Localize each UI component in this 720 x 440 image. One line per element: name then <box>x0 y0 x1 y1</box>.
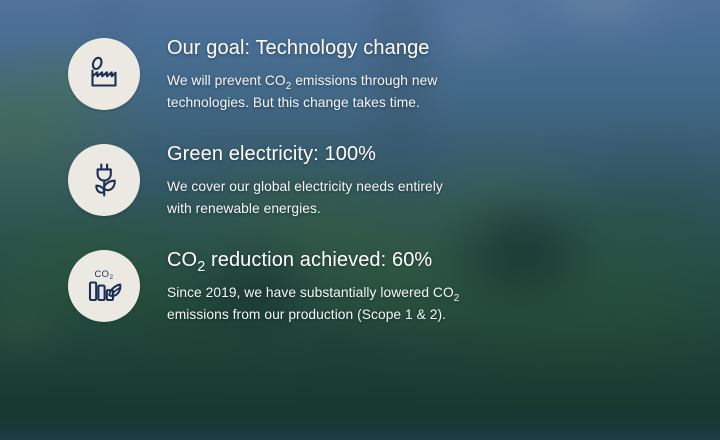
item-heading: CO2 reduction achieved: 60% <box>167 248 459 273</box>
body-text: emissions from our production (Scope 1 &… <box>167 307 446 322</box>
badge-container-1 <box>0 140 167 216</box>
item-body-line: technologies. But this change takes time… <box>167 92 437 114</box>
item-body-line: emissions from our production (Scope 1 &… <box>167 304 459 326</box>
sustainability-highlights-list: Our goal: Technology change We will prev… <box>0 0 720 400</box>
co2-bar-chart-leaf-icon: CO2 <box>81 263 127 309</box>
factory-leaf-icon <box>82 52 126 96</box>
list-item: CO2 CO2 reduction achieved: 60% Sin <box>0 246 720 352</box>
heading-text: CO <box>167 249 197 271</box>
body-text: We will prevent CO <box>167 73 286 88</box>
heading-text: Green electricity: 100% <box>167 143 376 165</box>
body-text: technologies. But this change takes time… <box>167 95 420 110</box>
body-text: emissions through new <box>291 73 437 88</box>
item-body-line: We cover our global electricity needs en… <box>167 176 443 198</box>
icon-badge-0 <box>68 38 140 110</box>
item-body-line: Since 2019, we have substantially lowere… <box>167 282 459 304</box>
item-heading: Our goal: Technology change <box>167 36 437 61</box>
subscript-2: 2 <box>454 293 460 304</box>
plug-plant-icon <box>82 158 126 202</box>
body-text: with renewable energies. <box>167 201 321 216</box>
list-item: Green electricity: 100% We cover our glo… <box>0 140 720 246</box>
icon-badge-1 <box>68 144 140 216</box>
body-text: Since 2019, we have substantially lowere… <box>167 285 454 300</box>
heading-text: Our goal: Technology change <box>167 37 430 59</box>
body-text: We cover our global electricity needs en… <box>167 179 443 194</box>
icon-badge-2: CO2 <box>68 250 140 322</box>
item-body-line: with renewable energies. <box>167 198 443 220</box>
item-body-line: We will prevent CO2 emissions through ne… <box>167 70 437 92</box>
list-item: Our goal: Technology change We will prev… <box>0 34 720 140</box>
badge-container-0 <box>0 34 167 110</box>
text-block-0: Our goal: Technology change We will prev… <box>167 34 437 115</box>
text-block-1: Green electricity: 100% We cover our glo… <box>167 140 443 221</box>
badge-container-2: CO2 <box>0 246 167 322</box>
heading-text: reduction achieved: 60% <box>205 249 432 271</box>
item-heading: Green electricity: 100% <box>167 142 443 167</box>
text-block-2: CO2 reduction achieved: 60% Since 2019, … <box>167 246 459 327</box>
co2-icon-label: CO2 <box>95 268 114 281</box>
